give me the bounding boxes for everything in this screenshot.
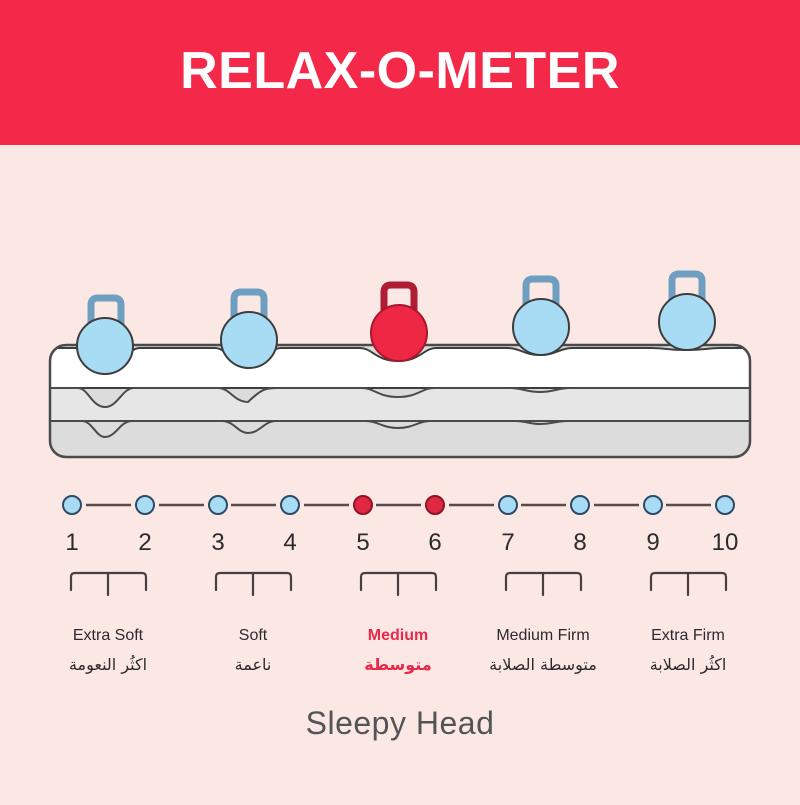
group-label-ar-medium: متوسطة bbox=[364, 655, 432, 674]
scale-number-4: 4 bbox=[283, 529, 296, 556]
brand-name: Sleepy Head bbox=[306, 705, 495, 741]
kettlebell-body-icon bbox=[77, 318, 133, 374]
scale-dot-5[interactable] bbox=[354, 496, 372, 514]
bracket-extra-firm bbox=[651, 573, 726, 595]
firmness-scale: 1 2 3 4 5 6 7 8 9 10 Extra Soft Soft Med… bbox=[0, 465, 800, 805]
mattress-diagram bbox=[0, 145, 800, 465]
scale-dot-1[interactable] bbox=[63, 496, 81, 514]
kettlebell-weight-5 bbox=[659, 274, 715, 350]
kettlebell-body-icon bbox=[221, 312, 277, 368]
scale-dot-4[interactable] bbox=[281, 496, 299, 514]
scale-dot-7[interactable] bbox=[499, 496, 517, 514]
scale-number-2: 2 bbox=[138, 529, 151, 556]
scale-dot-2[interactable] bbox=[136, 496, 154, 514]
group-label-en-extra-soft: Extra Soft bbox=[73, 627, 144, 644]
page-title: RELAX-O-METER bbox=[180, 45, 620, 97]
scale-dot-10[interactable] bbox=[716, 496, 734, 514]
kettlebell-weight-1 bbox=[77, 298, 133, 374]
scale-number-10: 10 bbox=[712, 529, 739, 556]
scale-number-3: 3 bbox=[211, 529, 224, 556]
header-banner: RELAX-O-METER bbox=[0, 0, 800, 145]
scale-number-8: 8 bbox=[573, 529, 586, 556]
group-label-ar-extra-firm: اكثُر الصلابة bbox=[650, 655, 727, 675]
group-label-en-medium-firm: Medium Firm bbox=[496, 627, 589, 644]
scale-number-1: 1 bbox=[65, 529, 78, 556]
group-label-en-medium: Medium bbox=[368, 627, 428, 644]
group-label-en-extra-firm: Extra Firm bbox=[651, 627, 725, 644]
scale-dot-6[interactable] bbox=[426, 496, 444, 514]
scale-number-7: 7 bbox=[501, 529, 514, 556]
bracket-medium-firm bbox=[506, 573, 581, 595]
mattress-base-layer bbox=[40, 421, 760, 465]
bracket-medium bbox=[361, 573, 436, 595]
bracket-soft bbox=[216, 573, 291, 595]
group-label-ar-soft: ناعمة bbox=[235, 655, 272, 674]
kettlebell-weight-2 bbox=[221, 292, 277, 368]
group-label-ar-medium-firm: متوسطة الصلابة bbox=[489, 655, 597, 675]
kettlebell-body-icon bbox=[371, 305, 427, 361]
scale-dot-3[interactable] bbox=[209, 496, 227, 514]
group-label-en-soft: Soft bbox=[239, 627, 268, 644]
brand-footer: Sleepy Head bbox=[0, 705, 800, 742]
scale-number-6: 6 bbox=[428, 529, 441, 556]
scale-dot-9[interactable] bbox=[644, 496, 662, 514]
bracket-extra-soft bbox=[71, 573, 146, 595]
firmness-illustration: 1 2 3 4 5 6 7 8 9 10 Extra Soft Soft Med… bbox=[0, 145, 800, 800]
kettlebell-weight-4 bbox=[513, 279, 569, 355]
kettlebell-body-icon bbox=[513, 299, 569, 355]
kettlebell-body-icon bbox=[659, 294, 715, 350]
group-label-ar-extra-soft: اكثُر النعومة bbox=[69, 655, 147, 675]
scale-dot-8[interactable] bbox=[571, 496, 589, 514]
scale-number-5: 5 bbox=[356, 529, 369, 556]
kettlebell-weight-3-selected bbox=[371, 285, 427, 361]
scale-number-9: 9 bbox=[646, 529, 659, 556]
